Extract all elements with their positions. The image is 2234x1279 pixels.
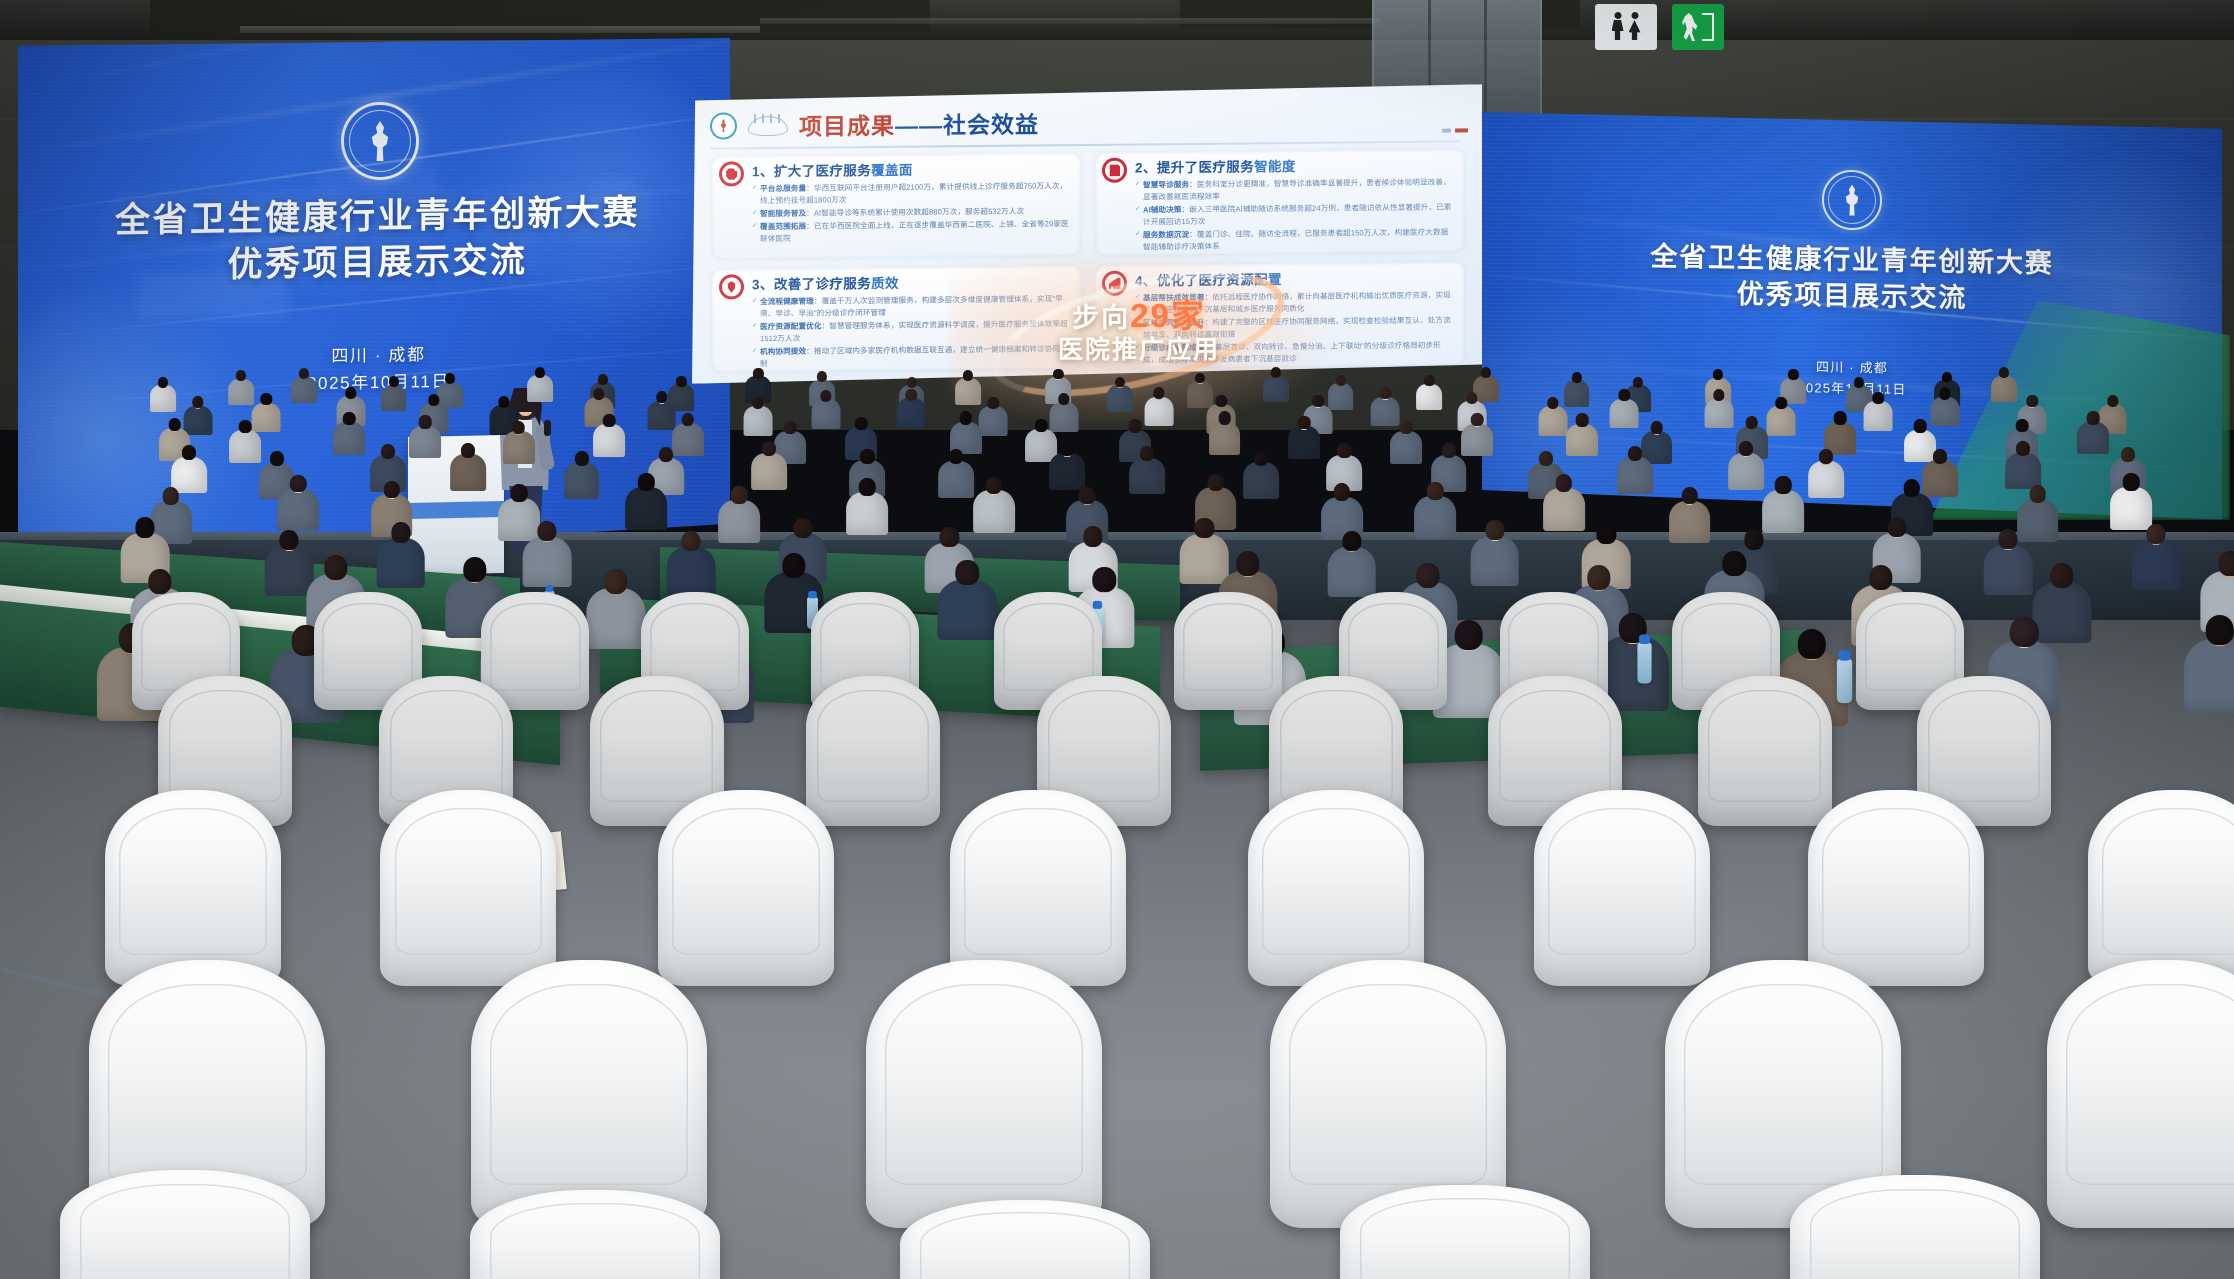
audience-member <box>1543 474 1585 535</box>
audience-head <box>1775 476 1792 494</box>
audience-torso <box>523 537 572 587</box>
audience-torso <box>1566 424 1598 457</box>
card-heading-highlight: 配置 <box>1254 272 1282 287</box>
audience-head <box>1442 443 1456 458</box>
audience-torso <box>973 490 1015 533</box>
audience-chair <box>1174 592 1282 710</box>
audience-head <box>1572 372 1582 383</box>
audience-torso <box>586 588 645 649</box>
audience-member <box>1704 389 1733 431</box>
card-bullet-list: 平台总服务量：华西互联网平台注册用户超2100万，累计提供线上诊疗服务超750万… <box>752 180 1073 245</box>
audience-head <box>2027 395 2038 407</box>
bar-chart-icon <box>1102 271 1127 296</box>
audience-torso <box>450 454 486 491</box>
audience-torso <box>1129 458 1165 495</box>
audience-member <box>1617 446 1653 498</box>
audience-head <box>1873 392 1884 404</box>
audience-torso <box>1390 431 1422 464</box>
led-right-title: 全省卫生健康行业青年创新大赛 优秀项目展示交流 <box>1650 238 2053 318</box>
audience-head <box>1939 387 1950 399</box>
audience-chair <box>2047 960 2234 1228</box>
truss-bar <box>760 18 1380 24</box>
slide-card-grid: 1、扩大了医疗服务覆盖面 平台总服务量：华西互联网平台注册用户超2100万，累计… <box>712 148 1464 371</box>
audience-torso <box>1263 376 1289 403</box>
led-right-title-line2: 优秀项目展示交流 <box>1650 275 2053 318</box>
audience-head <box>1869 565 1892 590</box>
audience-head <box>731 486 748 504</box>
audience-torso <box>625 487 667 530</box>
audience-member <box>1566 413 1598 459</box>
audience-head <box>1337 443 1351 458</box>
audience-head <box>956 560 979 585</box>
audience-head <box>1819 449 1833 464</box>
audience-head <box>1400 421 1413 434</box>
audience-member <box>1288 416 1320 462</box>
card-heading-plain: 提升了医疗服务 <box>1157 159 1254 175</box>
audience-torso <box>527 375 553 402</box>
audience-head <box>1481 367 1491 378</box>
audience-torso <box>1107 385 1133 412</box>
audience-head <box>428 394 439 406</box>
audience-member <box>1049 441 1085 493</box>
audience-torso <box>979 406 1008 436</box>
audience-head <box>2029 485 2046 503</box>
card-number: 3、 <box>752 277 774 292</box>
audience-torso <box>1543 488 1585 531</box>
card-heading-highlight: 覆盖面 <box>871 163 913 178</box>
audience-member <box>277 475 319 536</box>
audience-torso <box>1864 401 1893 431</box>
audience-head <box>1207 474 1224 492</box>
exit-sign <box>1672 4 1724 50</box>
audience-head <box>2206 615 2234 645</box>
audience-head <box>1999 529 2018 549</box>
audience-torso <box>2077 422 2109 455</box>
audience-member <box>625 473 667 534</box>
audience-head <box>793 518 812 538</box>
audience-head <box>1713 389 1724 401</box>
audience-member <box>1984 529 2033 599</box>
list-item: 区域协同能力提升：构建了完整的区域医疗协同服务网络，实现检查检验结果互认、处方流… <box>1135 314 1456 341</box>
slide-title-sub: 社会效益 <box>943 111 1039 138</box>
audience-head <box>820 390 831 402</box>
audience-member <box>1991 367 2017 404</box>
audience-head <box>906 377 916 388</box>
audience-head <box>1471 413 1484 426</box>
card-heading: 4、优化了医疗资源配置 <box>1135 266 1456 289</box>
audience-chair <box>470 1190 720 1279</box>
audience-chair <box>2088 790 2234 986</box>
male-pictogram-icon <box>1611 12 1624 42</box>
slide-card: 4、优化了医疗资源配置 基层帮扶成效显著：依托远程医疗协作网络，累计向基层医疗机… <box>1095 261 1464 368</box>
audience-head <box>1115 377 1125 388</box>
audience-head <box>638 473 655 491</box>
audience-head <box>2146 524 2165 544</box>
audience-head <box>1628 446 1642 461</box>
led-title-line2: 优秀项目展示交流 <box>115 236 640 290</box>
female-pictogram-icon <box>1628 12 1641 42</box>
audience-head <box>1380 387 1391 399</box>
audience-head <box>1633 377 1643 388</box>
audience-member <box>1416 375 1442 412</box>
card-heading: 1、扩大了医疗服务覆盖面 <box>752 157 1073 180</box>
audience-member <box>897 389 926 431</box>
audience-head <box>461 443 475 458</box>
audience-torso <box>667 547 716 597</box>
audience-torso <box>1209 422 1241 455</box>
slide-title: 项目成果——社会效益 <box>799 105 1039 141</box>
audience-member <box>1728 441 1764 493</box>
audience-head <box>1334 483 1351 501</box>
exit-door-icon <box>1702 13 1714 41</box>
audience-torso <box>333 422 365 455</box>
audience-head <box>676 376 686 387</box>
audience-head <box>1745 416 1758 429</box>
audience-chair <box>1248 790 1424 986</box>
audience-member <box>938 560 997 646</box>
audience-member <box>667 531 716 601</box>
slide-header: 项目成果——社会效益 <box>710 98 1464 145</box>
thumbs-up-icon <box>719 161 744 186</box>
audience-head <box>2087 411 2100 424</box>
audience-head <box>513 421 526 434</box>
audience-torso <box>811 399 840 429</box>
audience-head <box>1058 393 1069 405</box>
audience-member <box>1669 487 1711 548</box>
card-number: 4、 <box>1135 273 1157 288</box>
audience-head <box>1035 419 1048 432</box>
audience-head <box>1424 375 1434 386</box>
audience-member <box>1762 476 1804 537</box>
audience-chair <box>950 790 1126 986</box>
audience-chair <box>1534 790 1710 986</box>
audience-head <box>1834 411 1847 424</box>
audience-torso <box>229 430 261 463</box>
audience-head <box>1556 474 1573 492</box>
audience-member <box>955 370 981 407</box>
audience-torso <box>409 426 441 459</box>
audience-torso <box>2132 540 2181 590</box>
card-heading: 3、改善了诊疗服务质效 <box>752 270 1073 293</box>
audience-member <box>1864 392 1893 434</box>
audience-chair <box>60 1170 310 1279</box>
audience-member <box>586 569 645 655</box>
audience-head <box>1576 413 1589 426</box>
audience-torso <box>938 580 997 641</box>
audience-member <box>1610 389 1639 431</box>
audience-torso <box>897 398 926 428</box>
audience-head <box>2050 563 2073 588</box>
audience-head <box>817 371 827 382</box>
audience-member <box>1390 421 1422 467</box>
audience-head <box>381 444 395 459</box>
audience-head <box>681 531 700 551</box>
audience-head <box>163 487 180 505</box>
audience-head <box>855 417 868 430</box>
audience-member <box>450 443 486 495</box>
audience-torso <box>2184 639 2234 713</box>
list-item: 机构协同提效：推动了区域内多家医疗机构数据互联互通，建立统一健康档案和转诊协同机… <box>752 343 1073 370</box>
audience-head <box>1587 565 1610 590</box>
audience-head <box>988 397 999 409</box>
audience-head <box>1427 482 1444 500</box>
audience-chair <box>1808 790 1984 986</box>
audience-torso <box>1327 547 1376 597</box>
audience-head <box>2010 617 2039 647</box>
audience-torso <box>228 379 254 406</box>
audience-head <box>269 451 283 466</box>
audience-head <box>986 477 1003 495</box>
audience-chair <box>105 790 281 986</box>
card-heading-plain: 扩大了医疗服务 <box>774 163 871 179</box>
audience-head <box>1788 369 1798 380</box>
led-screen-title: 全省卫生健康行业青年创新大赛 优秀项目展示交流 <box>115 190 640 291</box>
audience-head <box>593 388 604 400</box>
audience-head <box>784 421 797 434</box>
audience-torso <box>277 489 319 532</box>
presentation-slide: 项目成果——社会效益 1、扩大了医疗服务覆盖面 平台总服务量：华西互联网平台注册… <box>692 84 1482 384</box>
audience-head <box>1079 487 1096 505</box>
audience-head <box>389 376 399 387</box>
audience-torso <box>1539 406 1568 436</box>
audience-head <box>192 396 203 408</box>
audience-member <box>1471 520 1520 590</box>
audience-head <box>498 396 509 408</box>
location-pin-icon <box>719 274 744 299</box>
list-item: 基层帮扶成效显著：依托远程医疗协作网络，累计向基层医疗机构输出优质医疗资源，实现… <box>1135 289 1456 316</box>
audience-member <box>811 390 840 432</box>
audience-head <box>1723 551 1746 576</box>
led-title-line1: 全省卫生健康行业青年创新大赛 <box>115 190 640 244</box>
audience-torso <box>291 377 317 404</box>
audience-head <box>1342 531 1361 551</box>
audience-member <box>1129 446 1165 498</box>
audience-head <box>1485 520 1504 540</box>
audience-torso <box>846 492 888 535</box>
audience-member <box>291 368 317 405</box>
audience-member <box>1209 411 1241 457</box>
audience-torso <box>743 406 772 436</box>
audience-head <box>148 569 171 594</box>
audience-head <box>1681 487 1698 505</box>
audience-member <box>1107 377 1133 414</box>
slide-title-main: 项目成果 <box>799 113 895 140</box>
audience-head <box>1218 411 1231 424</box>
audience-head <box>1466 392 1477 404</box>
audience-member <box>2132 524 2181 594</box>
audience-member <box>1564 372 1590 409</box>
audience-member <box>229 420 261 466</box>
audience-head <box>1744 529 1763 549</box>
audience-head <box>158 377 168 388</box>
audience-chair <box>471 960 707 1228</box>
restroom-sign <box>1595 4 1657 50</box>
audience-head <box>2219 551 2234 576</box>
audience-head <box>239 420 252 433</box>
audience-member <box>527 367 553 404</box>
water-bottle <box>1837 659 1852 703</box>
audience-head <box>1713 369 1723 380</box>
led-screen-subtitle: 四川 · 成都 2025年10月11日 <box>307 341 450 398</box>
audience-torso <box>1564 380 1590 407</box>
audience-head <box>1942 372 1952 383</box>
audience-head <box>260 393 271 405</box>
card-bullet-list: 智慧导诊服务：医务科室分诊更精准，智慧导诊准确率显著提升，患者候诊体验明显改善，… <box>1135 176 1456 253</box>
conference-hall-scene: 全省卫生健康行业青年创新大赛 优秀项目展示交流 四川 · 成都 2025年10月… <box>0 0 2234 1279</box>
audience-member <box>2077 411 2109 457</box>
card-number: 2、 <box>1135 160 1157 175</box>
audience-member <box>523 521 572 591</box>
competition-emblem <box>1822 169 1882 230</box>
audience-torso <box>1610 399 1639 429</box>
audience-head <box>280 530 299 550</box>
audience-head <box>906 389 917 401</box>
list-item: 服务数据沉淀：覆盖门诊、住院、随访全流程，已服务患者超150万人次，构建医疗大数… <box>1135 226 1456 253</box>
audience-head <box>345 387 356 399</box>
audience-head <box>1060 441 1074 456</box>
audience-torso <box>1416 384 1442 411</box>
list-item: 分级诊疗格局成型："基层首诊、双向转诊、急慢分治、上下联动"的分级诊疗格局初步形… <box>1135 339 1456 366</box>
audience-member <box>1263 367 1289 404</box>
audience-member <box>1327 531 1376 601</box>
audience-chair <box>1698 676 1832 826</box>
competition-emblem <box>341 102 419 180</box>
audience-head <box>538 521 557 541</box>
audience-head <box>1597 523 1616 543</box>
audience-member <box>1414 482 1456 543</box>
audience-head <box>959 411 972 424</box>
list-item: 平台总服务量：华西互联网平台注册用户超2100万，累计提供线上诊疗服务超750万… <box>752 180 1073 207</box>
card-number: 1、 <box>752 164 774 179</box>
audience-member <box>979 397 1008 439</box>
audience-member <box>846 478 888 539</box>
audience-head <box>463 557 486 582</box>
led-location: 四川 · 成都 <box>307 341 450 370</box>
audience-head <box>2107 395 2118 407</box>
audience-torso <box>1728 453 1764 490</box>
audience-head <box>1236 551 1259 576</box>
slide-card: 2、提升了医疗服务智能度 智慧导诊服务：医务科室分诊更精准，智慧导诊准确率显著提… <box>1095 148 1464 255</box>
audience-head <box>511 484 528 502</box>
audience-head <box>535 367 545 378</box>
audience-head <box>1416 563 1439 588</box>
list-item: 覆盖范围拓展：已在华西医院全面上线，正在逐步覆盖华西第二医院、上锦、全省等29家… <box>752 218 1073 245</box>
audience-torso <box>150 385 176 412</box>
audience-head <box>1195 518 1214 538</box>
audience-member <box>503 421 535 467</box>
audience-head <box>598 374 608 385</box>
audience-head <box>1254 451 1268 466</box>
emblem-core-icon <box>1839 184 1865 215</box>
audience-torso <box>1471 536 1520 586</box>
audience-torso <box>1617 457 1653 494</box>
audience-head <box>575 451 589 466</box>
audience-head <box>236 370 246 381</box>
audience-torso <box>719 500 761 543</box>
audience-head <box>1887 517 1906 537</box>
audience-chair <box>806 676 940 826</box>
led-right-title-line1: 全省卫生健康行业青年创新大赛 <box>1650 238 2053 281</box>
slide-card: 1、扩大了医疗服务覆盖面 平台总服务量：华西互联网平台注册用户超2100万，累计… <box>712 152 1081 259</box>
water-bottle <box>1637 642 1651 683</box>
audience-head <box>1776 397 1787 409</box>
audience-head <box>1539 451 1553 466</box>
audience-head <box>603 414 616 427</box>
audience-head <box>1650 421 1663 434</box>
audience-torso <box>381 385 407 412</box>
audience-chair <box>900 1200 1150 1279</box>
audience-member <box>381 376 407 413</box>
audience-member <box>564 451 600 503</box>
led-right-location: 四川 · 成都 <box>1797 356 1906 379</box>
audience-member <box>376 522 425 592</box>
audience-torso <box>1414 496 1456 539</box>
audience-head <box>1798 629 1827 659</box>
audience-head <box>1153 387 1164 399</box>
audience-head <box>1914 419 1927 432</box>
microphone-icon <box>544 420 551 436</box>
audience-member <box>973 477 1015 538</box>
emblem-core-icon <box>363 121 397 161</box>
audience-head <box>1854 377 1864 388</box>
audience-head <box>963 370 973 381</box>
audience-torso <box>1984 545 2033 595</box>
audience-head <box>656 391 667 403</box>
audience-head <box>1547 397 1558 409</box>
card-heading-highlight: 质效 <box>871 276 899 291</box>
audience-member <box>1539 397 1568 439</box>
audience-head <box>782 553 805 578</box>
audience-head <box>391 522 410 542</box>
audience-torso <box>938 461 974 498</box>
audience-head <box>383 481 400 499</box>
audience-head <box>1455 620 1484 650</box>
slide-title-dash: —— <box>895 112 943 138</box>
audience-torso <box>1704 399 1733 429</box>
card-heading: 2、提升了医疗服务智能度 <box>1135 153 1456 176</box>
card-heading-plain: 改善了诊疗服务 <box>774 276 871 292</box>
list-item: 全流程健康管理：覆盖千万人次监测管理服务，构建多层次多维度健康管理体系，实现"早… <box>752 293 1073 320</box>
audience-member <box>409 415 441 461</box>
audience-head <box>659 447 673 462</box>
audience-head <box>445 373 455 384</box>
audience-chair <box>380 790 556 986</box>
audience-head <box>1619 389 1630 401</box>
audience-chair <box>1340 1185 1590 1279</box>
audience-torso <box>1669 501 1711 544</box>
audience-head <box>182 445 196 460</box>
audience-head <box>762 441 776 456</box>
audience-head <box>1216 395 1227 407</box>
card-heading-highlight: 智能度 <box>1254 159 1296 174</box>
audience-head <box>1904 479 1921 497</box>
audience-head <box>343 412 356 425</box>
card-heading-plain: 优化了医疗资源 <box>1157 272 1254 288</box>
card-bullet-list: 全流程健康管理：覆盖千万人次监测管理服务，构建多层次多维度健康管理体系，实现"早… <box>752 293 1073 370</box>
hospital-building-icon <box>746 112 790 138</box>
running-man-icon <box>1682 13 1698 41</box>
audience-member <box>228 370 254 407</box>
audience-head <box>168 418 181 431</box>
audience-member <box>1243 451 1279 503</box>
audience-head <box>419 415 432 428</box>
audience-head <box>860 449 874 464</box>
audience-member <box>743 397 772 439</box>
audience-head <box>1739 441 1753 456</box>
audience-chair <box>658 790 834 986</box>
audience-head <box>1312 395 1323 407</box>
audience-head <box>2016 419 2029 432</box>
